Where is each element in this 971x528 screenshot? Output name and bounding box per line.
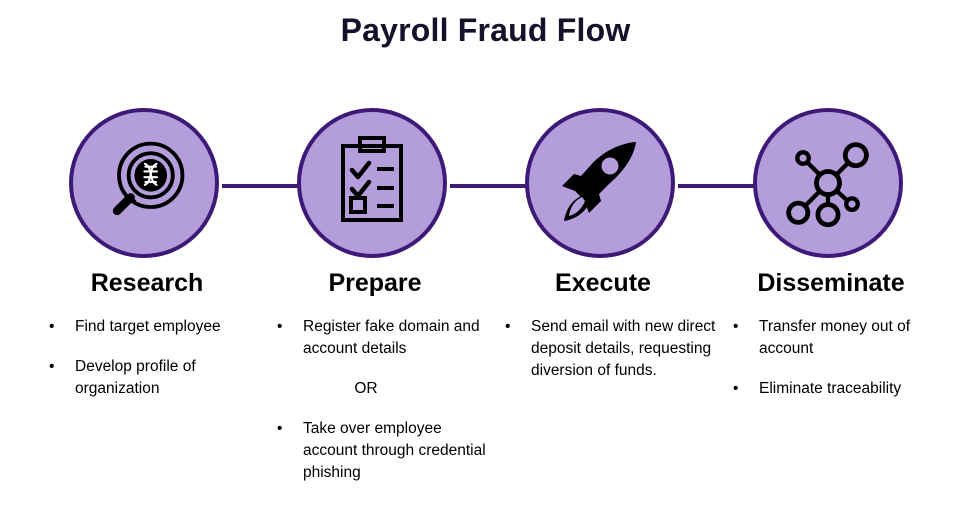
list-item: • Develop profile of organization: [33, 356, 261, 400]
stage-column-execute: Execute • Send email with new direct dep…: [489, 270, 717, 400]
magnifier-dna-icon: [96, 135, 192, 231]
stage-column-prepare: Prepare • Register fake domain and accou…: [261, 270, 489, 502]
connector-research-to-prepare: [222, 184, 304, 188]
rocket-icon: [550, 133, 650, 233]
bullet-dot-icon: •: [277, 418, 282, 440]
list-item-text: Send email with new direct deposit detai…: [531, 318, 715, 379]
clipboard-checklist-icon: [327, 134, 417, 232]
bullet-dot-icon: •: [733, 316, 738, 338]
bullet-list-research: • Find target employee • Develop profile…: [33, 316, 261, 400]
list-item-text: Eliminate traceability: [759, 380, 901, 397]
bullet-list-execute: • Send email with new direct deposit det…: [489, 316, 717, 382]
stage-column-disseminate: Disseminate • Transfer money out of acco…: [717, 270, 945, 418]
list-item: • Register fake domain and account detai…: [261, 316, 489, 360]
bullet-dot-icon: •: [49, 356, 54, 378]
list-item: • Send email with new direct deposit det…: [489, 316, 717, 382]
connector-prepare-to-execute: [450, 184, 532, 188]
list-item-text: Develop profile of organization: [75, 358, 196, 397]
list-item-text: Find target employee: [75, 318, 221, 335]
list-item: • Transfer money out of account: [717, 316, 945, 360]
page-title: Payroll Fraud Flow: [0, 12, 971, 49]
stage-heading-execute: Execute: [489, 270, 717, 298]
flow-diagram: [0, 104, 971, 262]
slide-canvas: Payroll Fraud Flow: [0, 0, 971, 528]
bullet-dot-icon: •: [277, 316, 282, 338]
stage-node-research[interactable]: [69, 108, 219, 258]
list-item: • Find target employee: [33, 316, 261, 338]
network-hub-icon: [780, 135, 876, 231]
stage-heading-prepare: Prepare: [261, 270, 489, 298]
connector-execute-to-disseminate: [678, 184, 760, 188]
or-separator: OR: [261, 378, 489, 400]
bullet-dot-icon: •: [505, 316, 510, 338]
list-item-text: Transfer money out of account: [759, 318, 910, 357]
stage-heading-disseminate: Disseminate: [717, 270, 945, 298]
bullet-dot-icon: •: [49, 316, 54, 338]
stage-node-disseminate[interactable]: [753, 108, 903, 258]
bullet-list-prepare: • Register fake domain and account detai…: [261, 316, 489, 484]
list-item: • Eliminate traceability: [717, 378, 945, 400]
bullet-dot-icon: •: [733, 378, 738, 400]
stage-node-prepare[interactable]: [297, 108, 447, 258]
stage-heading-research: Research: [33, 270, 261, 298]
list-item-text: Register fake domain and account details: [303, 318, 480, 357]
stage-details: Research • Find target employee • Develo…: [0, 270, 971, 528]
bullet-list-disseminate: • Transfer money out of account • Elimin…: [717, 316, 945, 400]
stage-node-execute[interactable]: [525, 108, 675, 258]
list-item-text: Take over employee account through crede…: [303, 420, 486, 481]
list-item: • Take over employee account through cre…: [261, 418, 489, 484]
stage-column-research: Research • Find target employee • Develo…: [33, 270, 261, 418]
